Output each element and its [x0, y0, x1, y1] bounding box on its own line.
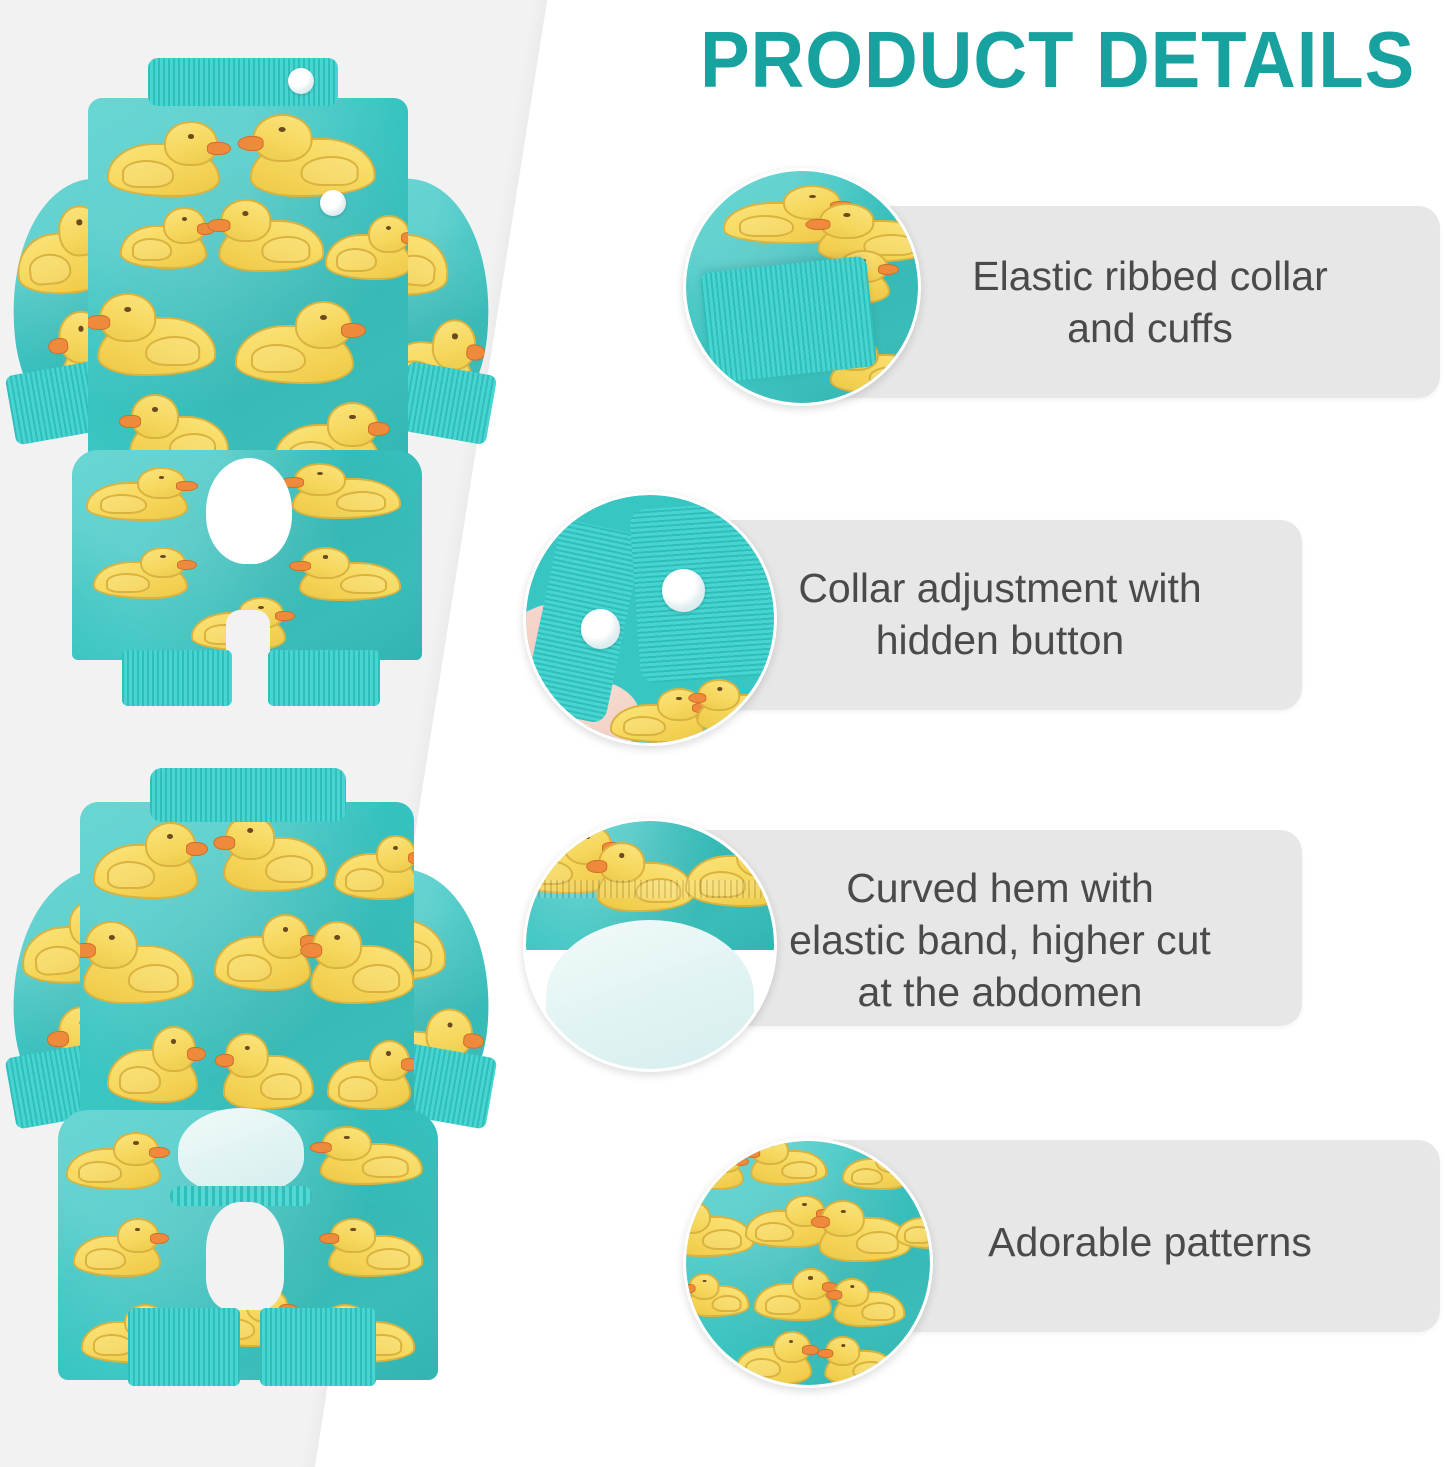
belly-opening-lining — [178, 1108, 304, 1194]
infographic-canvas: PRODUCT DETAILS — [0, 0, 1445, 1467]
hidden-snap-button-2 — [662, 569, 704, 611]
hidden-snap-button-1 — [581, 609, 621, 649]
feature-label-3-line-2: elastic band, higher cut — [700, 914, 1300, 966]
feature-label-3-line-1: Curved hem with — [700, 862, 1300, 914]
feature-label-1: Elastic ribbed collar and cuffs — [880, 250, 1420, 354]
feature-label-3-line-3: at the abdomen — [700, 966, 1300, 1018]
feature-label-2-line-2: hidden button — [720, 614, 1280, 666]
feature-label-4-line-1: Adorable patterns — [880, 1216, 1420, 1268]
product-photo-front-view — [10, 50, 490, 700]
leg-cuff-left — [122, 650, 232, 706]
leg-cuff-left-back — [128, 1308, 240, 1386]
feature-label-1-line-2: and cuffs — [880, 302, 1420, 354]
leg-cuff-right-back — [260, 1308, 376, 1386]
ribbed-cuff-detail — [699, 255, 877, 383]
product-photo-back-view — [10, 750, 490, 1440]
feature-label-3: Curved hem with elastic band, higher cut… — [700, 862, 1300, 1018]
feature-label-1-line-1: Elastic ribbed collar — [880, 250, 1420, 302]
feature-label-2-line-1: Collar adjustment with — [720, 562, 1280, 614]
leg-cuff-right — [268, 650, 380, 706]
snap-button-collar — [288, 68, 314, 94]
page-title: PRODUCT DETAILS — [700, 16, 1393, 104]
feature-label-4: Adorable patterns — [880, 1216, 1420, 1268]
snap-button-chest — [320, 190, 346, 216]
belly-opening — [206, 458, 292, 564]
feature-label-2: Collar adjustment with hidden button — [720, 562, 1280, 666]
ribbed-collar-back — [150, 768, 346, 822]
sleeve-cuff-right — [397, 361, 498, 446]
